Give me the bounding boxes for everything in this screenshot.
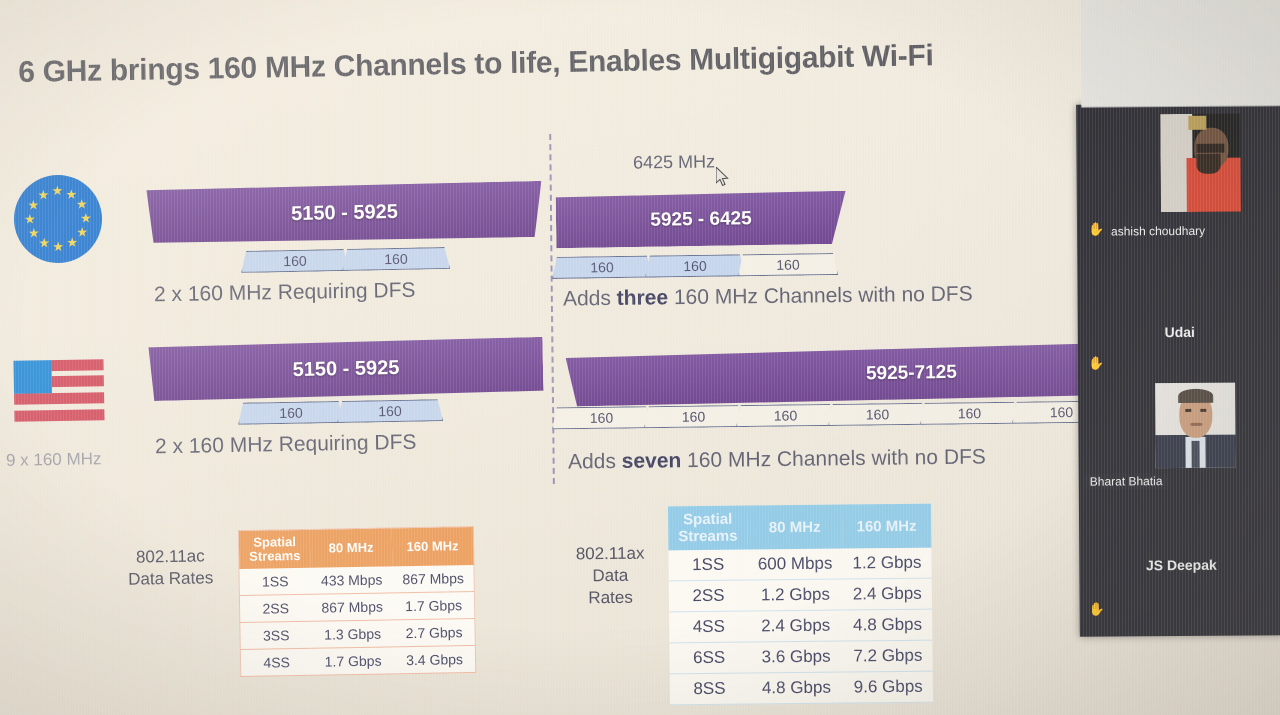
channel-chip-label: 160 — [776, 256, 800, 272]
channel-chip-label: 160 — [682, 409, 706, 425]
band-range-label: 5150 - 5925 — [292, 356, 399, 381]
caption-us-existing: 2 x 160 MHz Requiring DFS — [155, 431, 417, 460]
band-range-label: 5925 - 6425 — [650, 208, 752, 232]
channel-chip-label: 160 — [683, 258, 707, 274]
us-flag-icon — [13, 359, 104, 423]
band-range-label: 5925-7125 — [866, 362, 957, 386]
band-shape — [566, 343, 1097, 406]
caption-post: 160 MHz Channels with no DFS — [668, 282, 973, 309]
col-header-80mhz: 80 MHz — [310, 528, 392, 568]
cell-160mhz: 1.7 Gbps — [393, 591, 475, 619]
eu-star-icon: ★ — [80, 211, 92, 225]
participant-name: JS Deepak — [1079, 556, 1280, 573]
participant-tile-3[interactable]: JS Deepak ✋ — [1079, 511, 1280, 636]
cell-160mhz: 2.4 Gbps — [843, 578, 932, 610]
total-channels-label: 9 x 160 MHz — [6, 449, 102, 471]
channel-chip: 160 — [552, 256, 652, 279]
cell-80mhz: 867 Mbps — [311, 593, 393, 621]
col-header-160mhz: 160 MHz — [842, 504, 931, 549]
table-row: 1SS600 Mbps1.2 Gbps — [668, 548, 931, 581]
ax-label-line1: 802.11ax — [576, 543, 645, 566]
ax-data-rates-table: Spatial Streams 80 MHz 160 MHz 1SS600 Mb… — [668, 504, 933, 706]
cell-streams: 3SS — [240, 621, 312, 649]
cell-80mhz: 1.7 Gbps — [312, 647, 394, 675]
ac-label-line1: 802.11ac — [128, 545, 213, 568]
table-row: 4SS1.7 Gbps3.4 Gbps — [240, 645, 476, 676]
eu-star-icon: ★ — [24, 212, 36, 226]
eu-star-icon: ★ — [52, 240, 64, 254]
band-eu-new: 5925 - 6425 — [556, 191, 847, 249]
table-row: 6SS3.6 Gbps7.2 Gbps — [669, 640, 932, 674]
channel-chip-label: 160 — [283, 253, 307, 269]
table-row: 4SS2.4 Gbps4.8 Gbps — [669, 609, 932, 643]
caption-us-new: Adds seven 160 MHz Channels with no DFS — [568, 445, 986, 474]
channels-us-existing: 160 160 — [238, 399, 436, 424]
table-row: 2SS1.2 Gbps2.4 Gbps — [669, 578, 932, 612]
channels-eu-existing: 160 160 — [241, 247, 443, 273]
channels-eu-new: 160 160 160 — [552, 253, 831, 279]
cell-160mhz: 2.7 Gbps — [393, 618, 475, 646]
col-header-spatial-streams: Spatial Streams — [238, 529, 310, 569]
band-us-new: 5925-7125 — [566, 343, 1097, 406]
caption-pre: Adds — [563, 287, 617, 311]
eu-star-icon: ★ — [28, 226, 40, 240]
caption-eu-new: Adds three 160 MHz Channels with no DFS — [563, 282, 973, 311]
cell-80mhz: 600 Mbps — [748, 549, 843, 580]
caption-post: 160 MHz Channels with no DFS — [681, 445, 986, 472]
avatar — [1155, 383, 1236, 469]
channel-chip: 160 — [736, 404, 835, 427]
cell-80mhz: 1.2 Gbps — [748, 579, 843, 611]
table-header-row: Spatial Streams 80 MHz 160 MHz — [668, 504, 931, 551]
channel-chip: 160 — [241, 249, 349, 273]
col-header-spatial-streams: Spatial Streams — [668, 506, 748, 551]
eu-flag-icon: ★★★★★★★★★★★★ — [13, 174, 103, 264]
header-line2: Streams — [678, 528, 737, 546]
eu-star-icon: ★ — [66, 236, 78, 250]
frequency-annotation: 6425 MHz — [633, 151, 715, 173]
cell-streams: 2SS — [239, 594, 311, 622]
participant-name: Bharat Bhatia — [1084, 473, 1169, 490]
channel-chip: 160 — [920, 402, 1019, 425]
cell-streams: 6SS — [669, 642, 749, 674]
participant-tile-2[interactable]: ✋ Bharat Bhatia — [1078, 356, 1280, 512]
eu-star-icon: ★ — [37, 188, 49, 202]
cell-160mhz: 9.6 Gbps — [844, 671, 933, 703]
channel-chip-label: 160 — [378, 403, 402, 419]
table-row: 1SS433 Mbps867 Mbps — [239, 565, 475, 596]
channel-chip: 160 — [552, 406, 651, 429]
eu-star-icon: ★ — [38, 236, 50, 250]
channel-chip-label: 160 — [590, 410, 614, 426]
microphone-muted-icon: ✋ — [1088, 223, 1104, 238]
window-overlay-bar — [1081, 0, 1280, 107]
page-title: 6 GHz brings 160 MHz Channels to life, E… — [18, 35, 1158, 90]
col-header-160mhz: 160 MHz — [392, 526, 475, 566]
cell-80mhz: 2.4 Gbps — [748, 610, 843, 642]
channel-chip-label: 160 — [866, 406, 890, 422]
cell-80mhz: 4.8 Gbps — [749, 672, 844, 704]
ac-label-line2: Data Rates — [128, 567, 213, 590]
video-conference-panel[interactable]: ✋ ashish choudhary Udai ✋ Bharat Bhatia — [1076, 103, 1280, 636]
table-header-row: Spatial Streams 80 MHz 160 MHz — [238, 526, 474, 569]
cell-80mhz: 433 Mbps — [311, 566, 393, 594]
header-line1: Spatial — [678, 511, 737, 529]
ax-table-label: 802.11ax Data Rates — [576, 543, 645, 610]
band-range-label: 5150 - 5925 — [291, 200, 398, 225]
mouse-cursor-icon — [716, 167, 730, 187]
channel-chip: 160 — [645, 254, 745, 277]
table-row: 3SS1.3 Gbps2.7 Gbps — [240, 618, 476, 649]
slide-stage: 6 GHz brings 160 MHz Channels to life, E… — [0, 0, 1280, 715]
participant-name: ashish choudhary — [1105, 223, 1211, 240]
channel-chip: 160 — [337, 399, 443, 423]
caption-pre: Adds — [568, 450, 622, 474]
band-eu-existing: 5150 - 5925 — [146, 181, 542, 245]
channel-chip: 160 — [342, 247, 450, 271]
table-row: 8SS4.8 Gbps9.6 Gbps — [670, 671, 933, 705]
caption-eu-existing: 2 x 160 MHz Requiring DFS — [154, 279, 416, 308]
cell-160mhz: 7.2 Gbps — [843, 640, 932, 672]
band-divider — [549, 134, 555, 484]
cell-80mhz: 1.3 Gbps — [312, 620, 394, 648]
channel-chip-label: 160 — [590, 259, 614, 275]
cell-streams: 4SS — [669, 611, 749, 643]
cell-160mhz: 3.4 Gbps — [394, 645, 476, 673]
ax-label-line3: Rates — [576, 587, 645, 610]
channel-chip-label: 160 — [1050, 404, 1074, 420]
cell-160mhz: 867 Mbps — [392, 565, 474, 593]
channel-chip: 160 — [828, 403, 927, 426]
eu-star-icon: ★ — [51, 184, 63, 198]
header-line2: Streams — [249, 549, 301, 564]
channel-chip-label: 160 — [958, 405, 982, 421]
microphone-muted-icon: ✋ — [1089, 603, 1105, 618]
channel-chip-label: 160 — [384, 251, 408, 267]
ac-data-rates-table: Spatial Streams 80 MHz 160 MHz 1SS433 Mb… — [238, 526, 477, 677]
table-row: 2SS867 Mbps1.7 Gbps — [239, 591, 475, 622]
caption-emphasis: three — [617, 286, 669, 310]
channel-chip-label: 160 — [279, 405, 303, 421]
channel-chip: 160 — [738, 253, 838, 276]
microphone-muted-icon: ✋ — [1088, 357, 1104, 372]
cell-160mhz: 4.8 Gbps — [843, 609, 932, 641]
channel-chip: 160 — [238, 401, 344, 425]
participant-tile-0[interactable]: ✋ ashish choudhary — [1076, 103, 1280, 252]
ax-label-line2: Data — [576, 565, 645, 588]
cell-streams: 4SS — [240, 648, 312, 676]
cell-streams: 2SS — [669, 580, 749, 612]
col-header-80mhz: 80 MHz — [747, 505, 842, 550]
participant-name: Udai — [1078, 323, 1280, 340]
cell-160mhz: 1.2 Gbps — [842, 548, 931, 579]
channel-chip: 160 — [644, 405, 743, 428]
caption-emphasis: seven — [622, 449, 682, 473]
cell-streams: 1SS — [239, 568, 311, 596]
cell-streams: 1SS — [668, 550, 748, 581]
cell-streams: 8SS — [670, 673, 750, 705]
cell-80mhz: 3.6 Gbps — [749, 641, 844, 673]
ac-table-label: 802.11ac Data Rates — [128, 545, 214, 590]
channel-chip-label: 160 — [774, 407, 798, 423]
avatar — [1160, 114, 1241, 213]
participant-tile-1[interactable]: Udai — [1077, 251, 1280, 357]
band-us-existing: 5150 - 5925 — [148, 337, 543, 401]
